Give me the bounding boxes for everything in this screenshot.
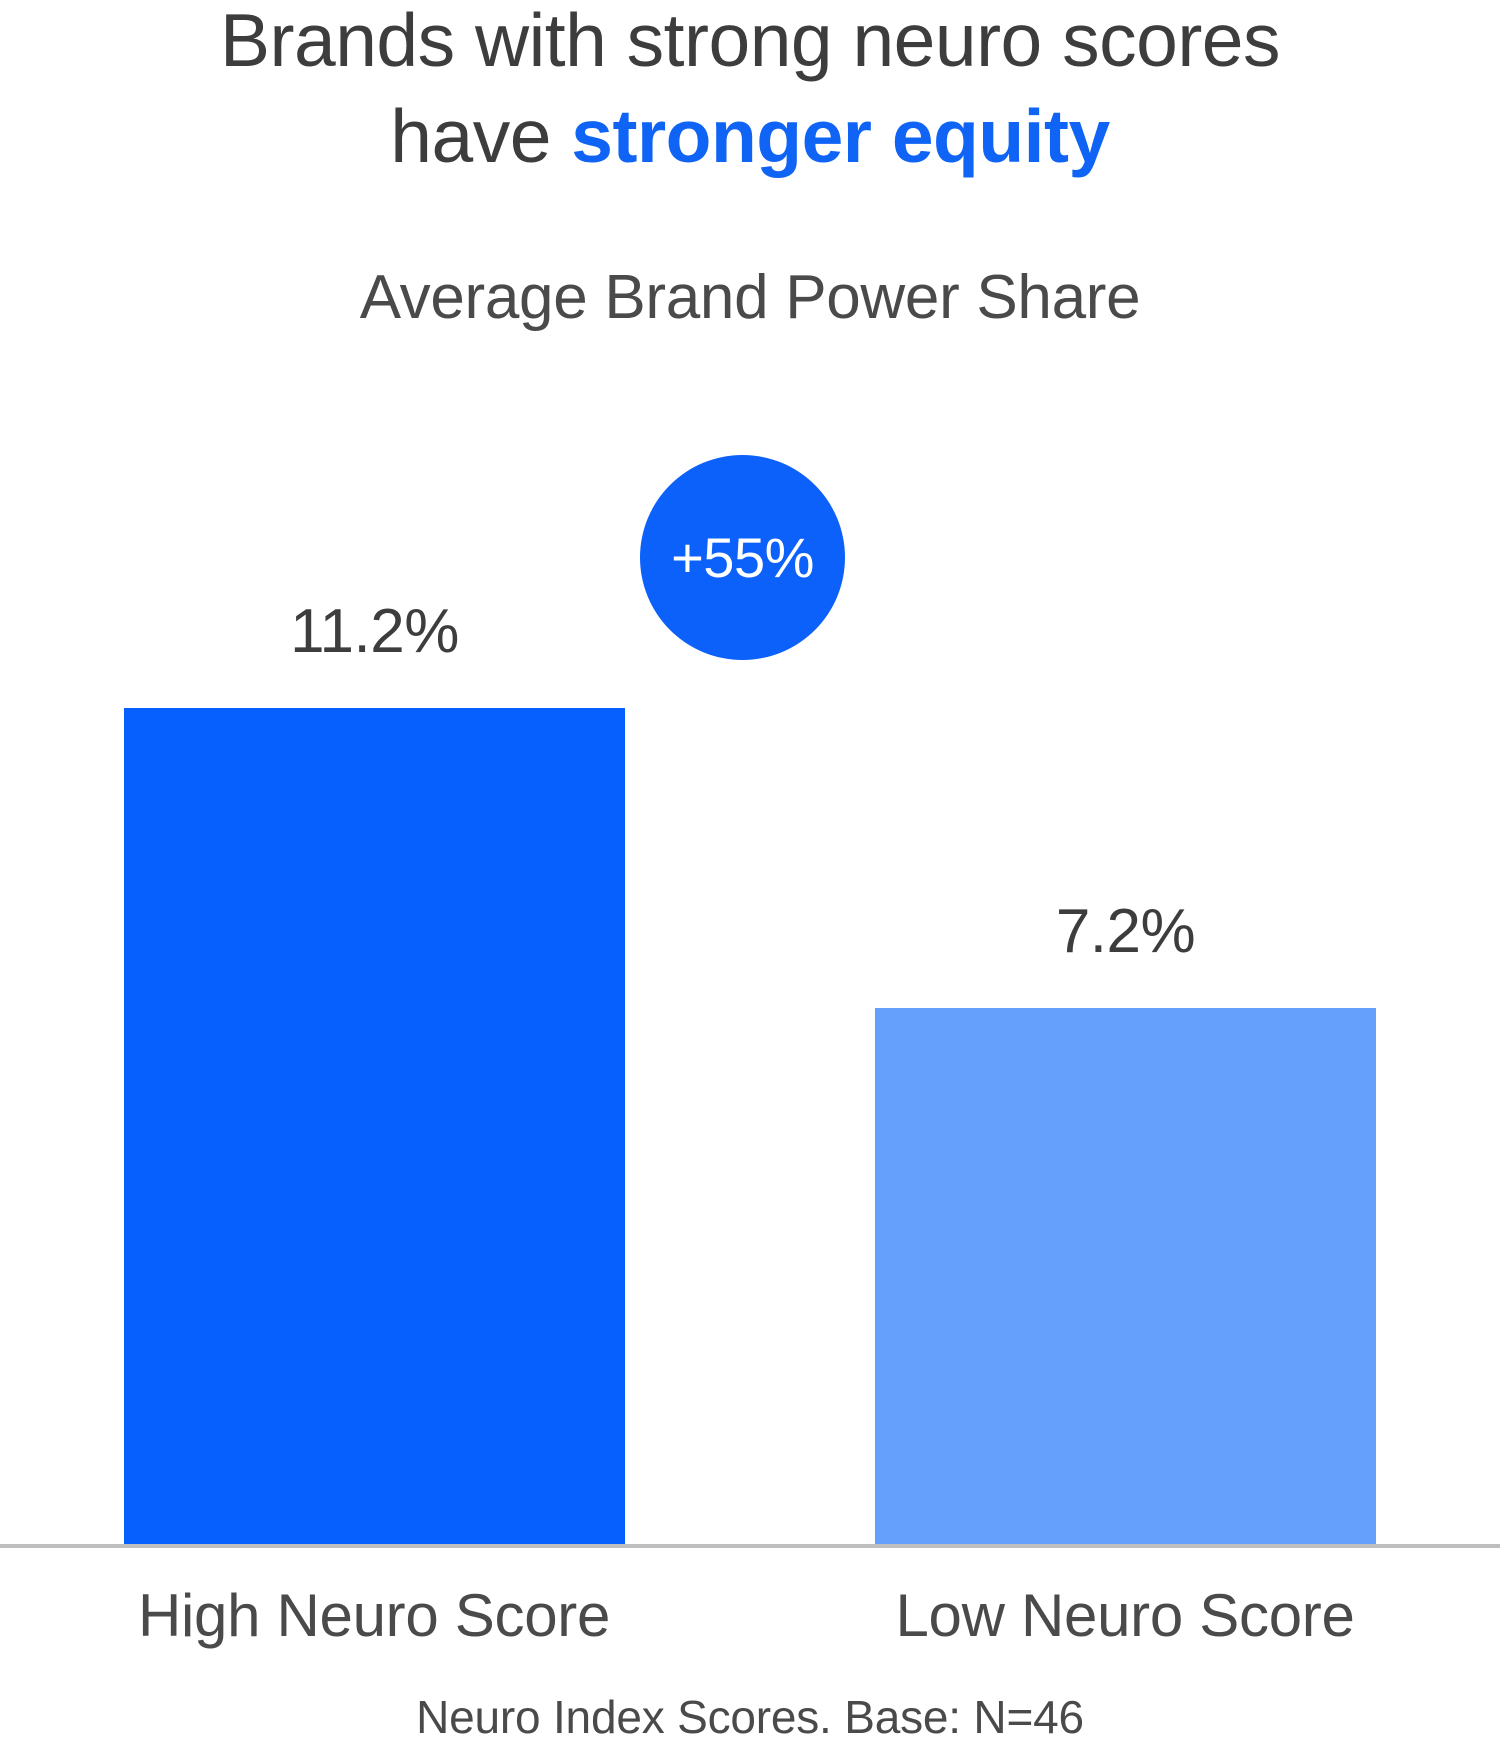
bar-low-neuro-score [875,1008,1376,1547]
bar-value-label-low: 7.2% [875,901,1376,963]
bar-chart-plot: 11.2% 7.2% +55% High Neuro Score Low Neu… [0,0,1500,1742]
delta-badge-label: +55% [671,530,814,586]
category-label-low-neuro-score: Low Neuro Score [855,1578,1395,1654]
x-axis-baseline [0,1544,1500,1548]
bar-value-label-high: 11.2% [124,601,625,663]
chart-footnote: Neuro Index Scores. Base: N=46 [0,1688,1500,1746]
delta-badge: +55% [640,455,845,660]
category-label-high-neuro-score: High Neuro Score [104,1578,644,1654]
bar-high-neuro-score [124,708,625,1547]
